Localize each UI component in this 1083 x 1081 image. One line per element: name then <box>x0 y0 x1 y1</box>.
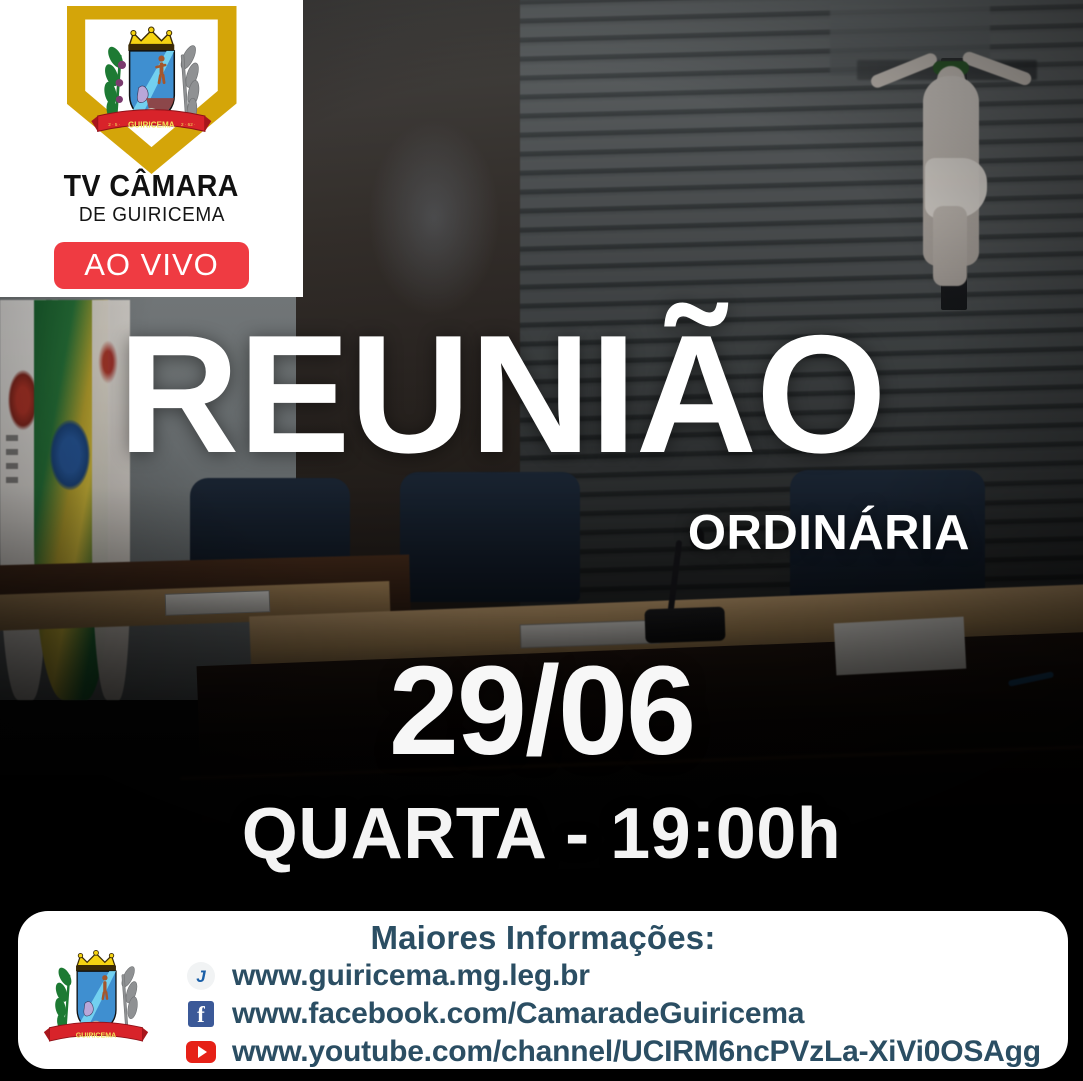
coat-of-arms-icon: GUIRICEMA <box>40 939 152 1061</box>
website-url[interactable]: www.guiricema.mg.leg.br <box>232 959 590 993</box>
tv-camara-logo-box: GUIRICEMA 2 · 5 · 2 · 62 · TV CÂMARA DE … <box>0 0 303 297</box>
page-subtitle: ORDINÁRIA <box>118 505 970 561</box>
event-weekday-time: QUARTA - 19:00h <box>0 798 1083 870</box>
page-title: REUNIÃO <box>118 315 988 475</box>
list-item[interactable]: www.youtube.com/channel/UCIRM6ncPVzLa-Xi… <box>186 1033 1041 1069</box>
youtube-icon <box>186 1037 216 1067</box>
coat-of-arms-icon: GUIRICEMA 2 · 5 · 2 · 62 · <box>67 6 237 174</box>
svg-text:2 · 62 ·: 2 · 62 · <box>181 123 196 128</box>
list-item[interactable]: J www.guiricema.mg.leg.br <box>186 957 1041 995</box>
logo-subtitle: DE GUIRICEMA <box>78 204 224 226</box>
crest-ribbon-text: GUIRICEMA <box>76 1032 117 1040</box>
youtube-url[interactable]: www.youtube.com/channel/UCIRM6ncPVzLa-Xi… <box>232 1035 1041 1069</box>
contact-info-panel: Maiores Informações: <box>18 911 1068 1069</box>
website-icon: J <box>186 961 216 991</box>
contact-info-title: Maiores Informações: <box>18 919 1068 957</box>
facebook-icon: f <box>186 999 216 1029</box>
svg-text:2 · 5 ·: 2 · 5 · <box>108 123 120 128</box>
event-date: 29/06 <box>0 648 1083 774</box>
logo-title: TV CÂMARA <box>64 170 239 201</box>
list-item[interactable]: f www.facebook.com/CamaradeGuiricema <box>186 995 1041 1033</box>
contact-links-list: J www.guiricema.mg.leg.br f www.facebook… <box>186 957 1041 1069</box>
coat-of-arms-art: GUIRICEMA 2 · 5 · 2 · 62 · <box>85 19 218 147</box>
facebook-url[interactable]: www.facebook.com/CamaradeGuiricema <box>232 997 804 1031</box>
event-poster: GUIRICEMA 2 · 5 · 2 · 62 · TV CÂMARA DE … <box>0 0 1083 1081</box>
crest-ribbon-text: GUIRICEMA <box>128 121 175 130</box>
live-badge: AO VIVO <box>54 242 248 289</box>
